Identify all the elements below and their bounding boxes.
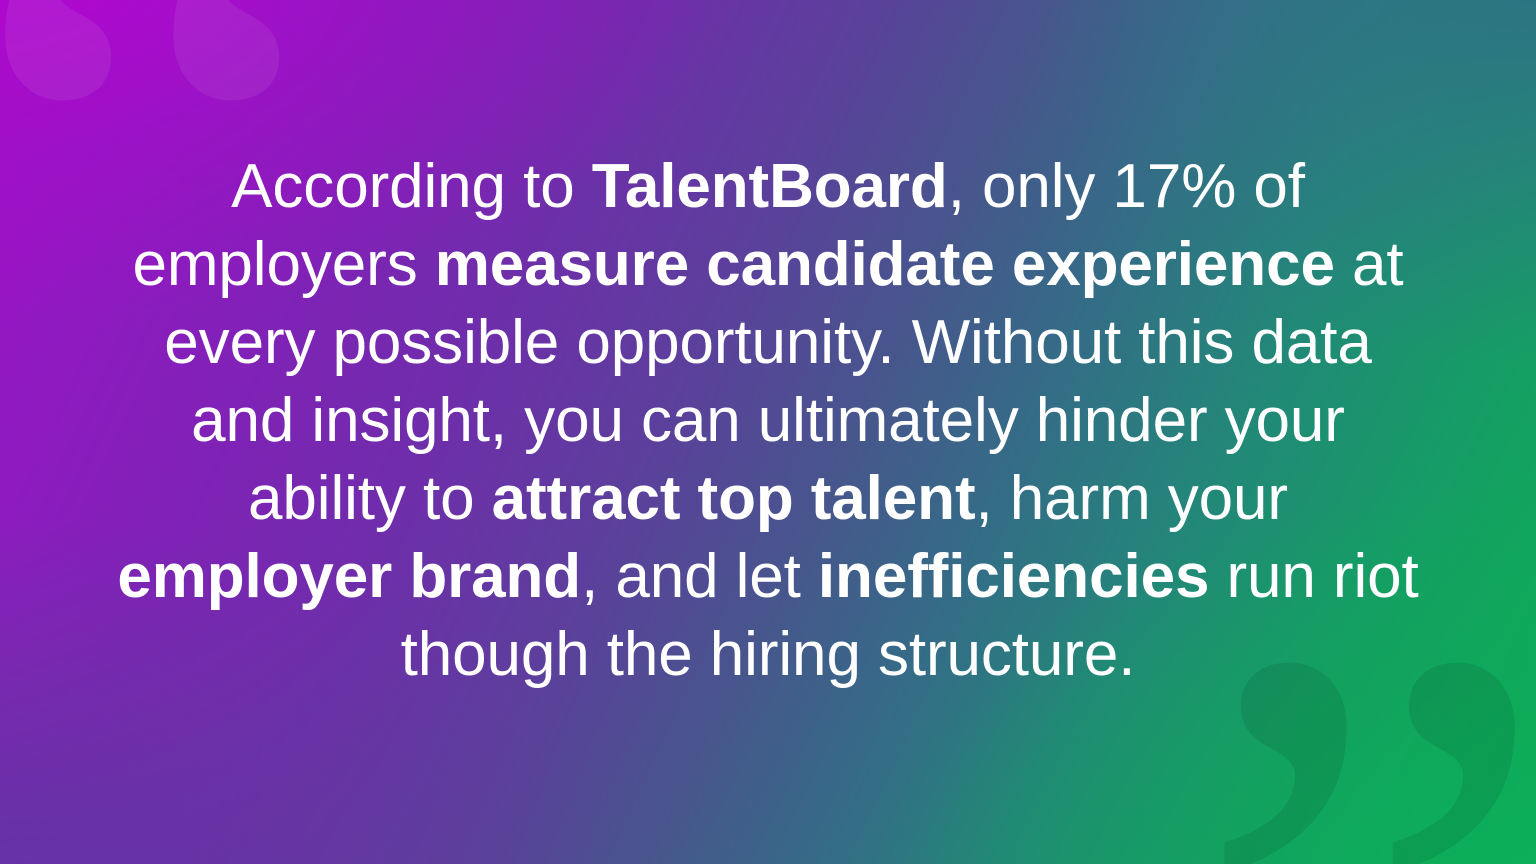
quote-segment: According to	[231, 152, 592, 221]
quote-container: According to TalentBoard, only 17% of em…	[0, 0, 1536, 864]
quote-segment-bold: attract top talent	[492, 464, 976, 533]
quote-text: According to TalentBoard, only 17% of em…	[108, 148, 1428, 695]
quote-segment: , harm your	[976, 464, 1306, 533]
quote-segment-bold: employer brand	[117, 542, 581, 611]
quote-card: “ ” According to TalentBoard, only 17% o…	[0, 0, 1536, 864]
quote-segment: , and let	[581, 542, 818, 611]
quote-segment-bold: measure candidate experience	[435, 230, 1335, 299]
quote-segment-bold: inefficiencies	[818, 542, 1209, 611]
quote-segment-bold: TalentBoard	[592, 152, 948, 221]
